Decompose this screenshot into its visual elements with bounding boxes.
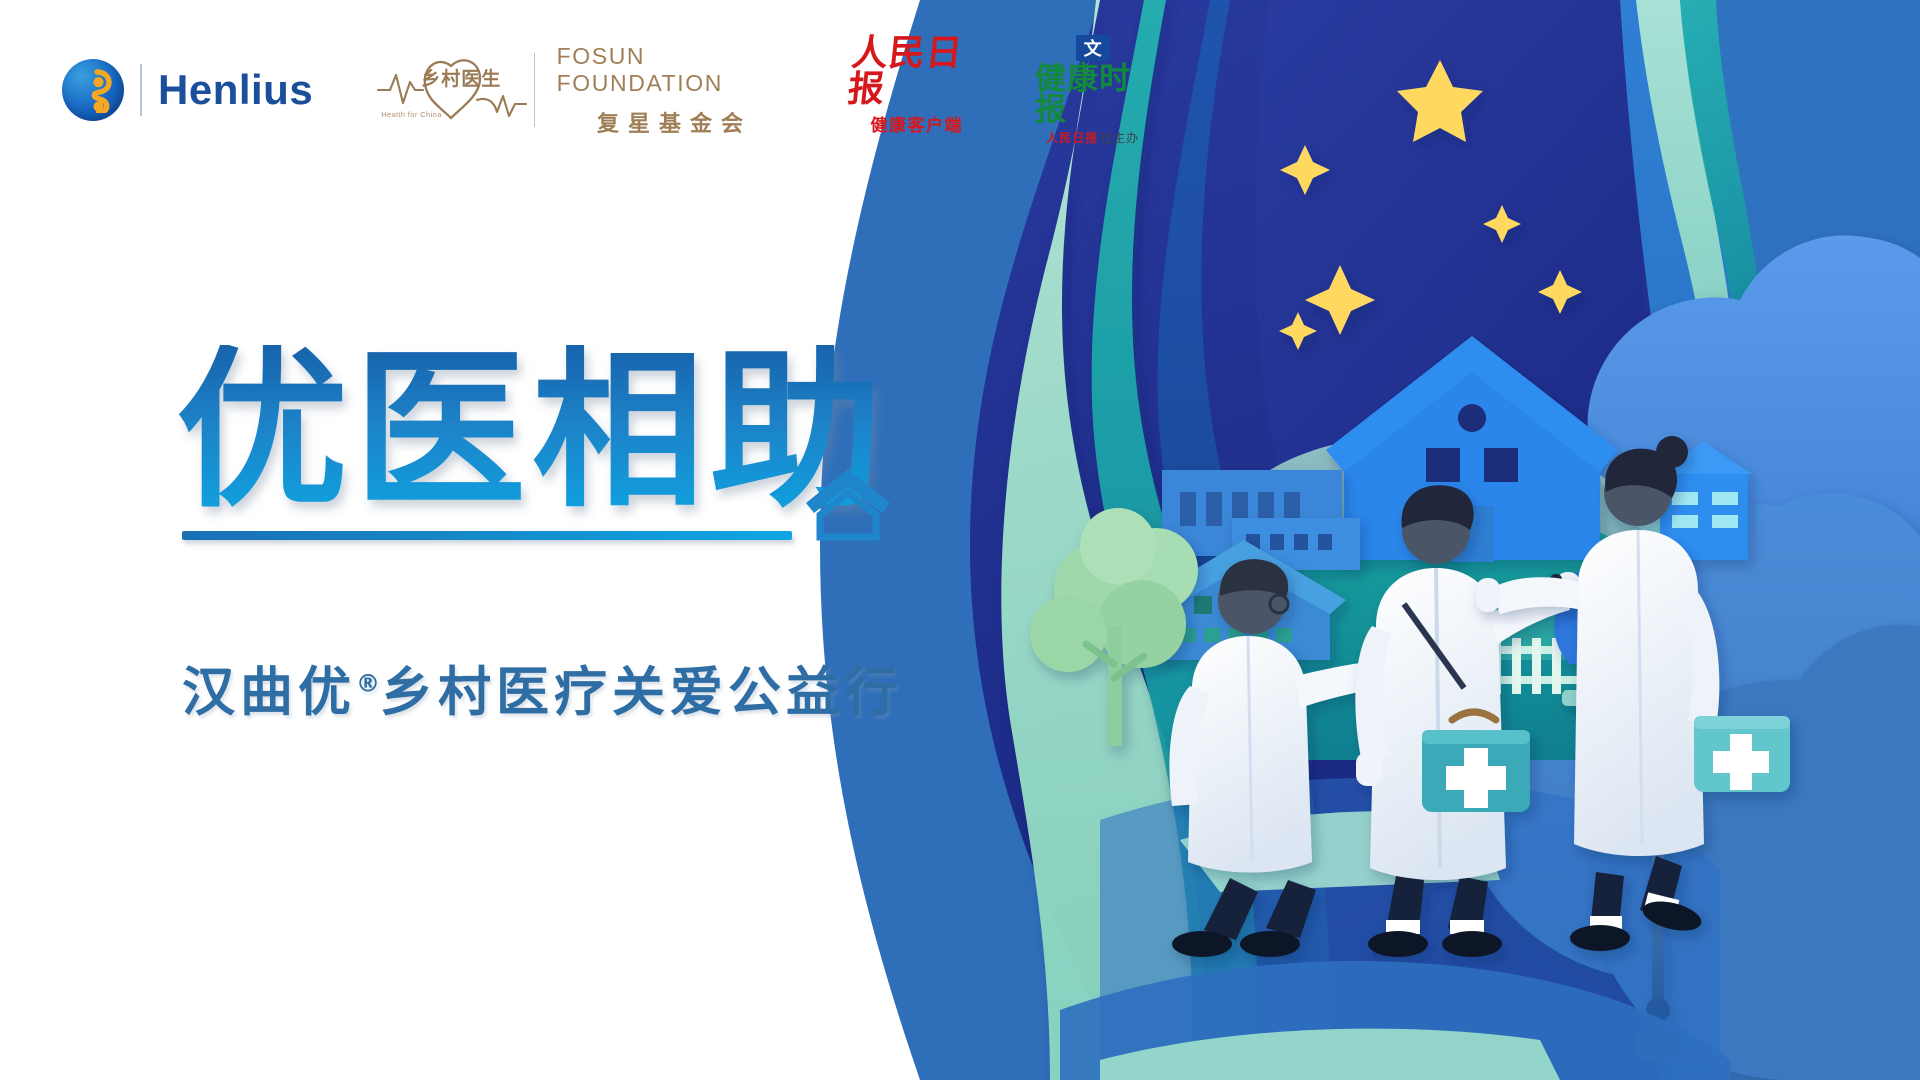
doctor-hair-bun <box>1656 436 1688 468</box>
doctor-hand <box>1356 752 1382 786</box>
peoples-daily-subtitle: 健康客户端 <box>871 111 964 136</box>
doctor-shoe <box>1570 925 1630 951</box>
peoples-daily-wordmark: 人民日报 <box>847 35 987 107</box>
health-times-publisher-mark: 人民日报 <box>1046 129 1098 146</box>
health-times-subtitle: 人民日报社主办 <box>1046 129 1139 146</box>
logo-divider <box>534 53 535 127</box>
subtitle-brand: 汉曲优 <box>182 662 356 723</box>
doctor-shoe <box>1240 931 1300 957</box>
house-roof-icon <box>802 463 894 541</box>
house-window <box>1484 448 1518 482</box>
house-window-round <box>1458 404 1486 432</box>
logo-fosun-foundation[interactable]: FOSUN FOUNDATION 复星基金会 <box>557 35 793 145</box>
logo-village-doctor[interactable]: 乡村医生 Health for China <box>377 44 512 136</box>
title-underline-bar <box>182 531 792 540</box>
poster-root: Henlius 乡村医生 Health for China FOSUN FOUN… <box>0 0 1920 1080</box>
page-title: 优医相助 <box>176 345 888 517</box>
registered-mark: ® <box>356 669 380 697</box>
house-window <box>1426 448 1460 482</box>
logo-henlius[interactable]: Henlius <box>62 35 313 145</box>
village-doctor-tagline: Health for China <box>381 110 442 119</box>
hero-title-block: 优医相助 <box>176 345 888 517</box>
health-times-wordmark: 健康时报 <box>1035 64 1150 126</box>
fosun-wordmark-cn: 复星基金会 <box>597 106 752 138</box>
doctor-shoe <box>1442 931 1502 957</box>
henlius-wordmark: Henlius <box>158 69 313 111</box>
doctor-shoe <box>1368 931 1428 957</box>
page-subtitle: 汉曲优®乡村医疗关爱公益行 <box>182 650 902 726</box>
fosun-wordmark-en: FOSUN FOUNDATION <box>557 43 793 97</box>
partner-logo-strip: Henlius 乡村医生 Health for China FOSUN FOUN… <box>0 0 1150 180</box>
medical-bag <box>1694 716 1790 792</box>
logo-health-times[interactable]: 文 健康时报 人民日报社主办 <box>1035 35 1150 145</box>
logo-peoples-daily-health[interactable]: 人民日报 健康客户端 <box>850 35 983 145</box>
health-times-badge-icon: 文 <box>1076 35 1110 61</box>
henlius-swirl-icon <box>74 69 112 113</box>
subtitle-text: 乡村医疗关爱公益行 <box>380 662 902 723</box>
henlius-logo-icon <box>62 59 124 121</box>
health-times-publisher-text: 社主办 <box>1100 129 1139 146</box>
doctor-hand <box>1476 578 1500 612</box>
village-doctor-wordmark: 乡村医生 <box>421 70 501 89</box>
heart-ecg-icon <box>377 44 527 136</box>
doctor-shoe <box>1172 931 1232 957</box>
logo-divider <box>140 64 142 116</box>
